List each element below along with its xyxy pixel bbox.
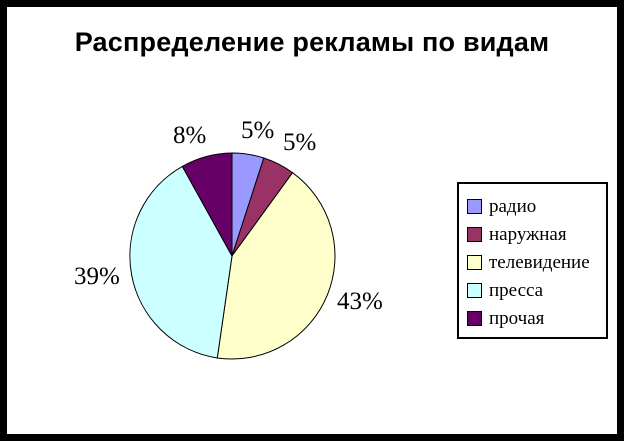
legend: радио наружная телевидение пресса прочая — [457, 182, 608, 339]
chart-frame: Распределение рекламы по видам 8% 5% 5% … — [0, 0, 624, 441]
legend-label-radio: радио — [489, 197, 536, 216]
data-label-other: 8% — [173, 122, 206, 150]
legend-swatch-icon-radio — [467, 199, 482, 214]
legend-item-other[interactable]: прочая — [467, 304, 606, 332]
legend-swatch-icon-press — [467, 283, 482, 298]
data-label-press: 39% — [74, 263, 120, 291]
data-label-radio: 5% — [241, 117, 274, 145]
legend-item-radio[interactable]: радио — [467, 192, 606, 220]
legend-swatch-icon-other — [467, 311, 482, 326]
legend-swatch-icon-tv — [467, 255, 482, 270]
data-label-tv: 43% — [337, 288, 383, 316]
legend-item-press[interactable]: пресса — [467, 276, 606, 304]
data-label-outdoor: 5% — [283, 129, 316, 157]
legend-label-tv: телевидение — [489, 253, 590, 272]
legend-item-tv[interactable]: телевидение — [467, 248, 606, 276]
legend-label-press: пресса — [489, 281, 543, 300]
legend-item-outdoor[interactable]: наружная — [467, 220, 606, 248]
legend-label-outdoor: наружная — [489, 225, 567, 244]
legend-label-other: прочая — [489, 309, 544, 328]
pie-chart-plot-area: 8% 5% 5% 39% 43% — [7, 7, 447, 441]
pie-chart-svg — [7, 7, 447, 441]
legend-swatch-icon-outdoor — [467, 227, 482, 242]
